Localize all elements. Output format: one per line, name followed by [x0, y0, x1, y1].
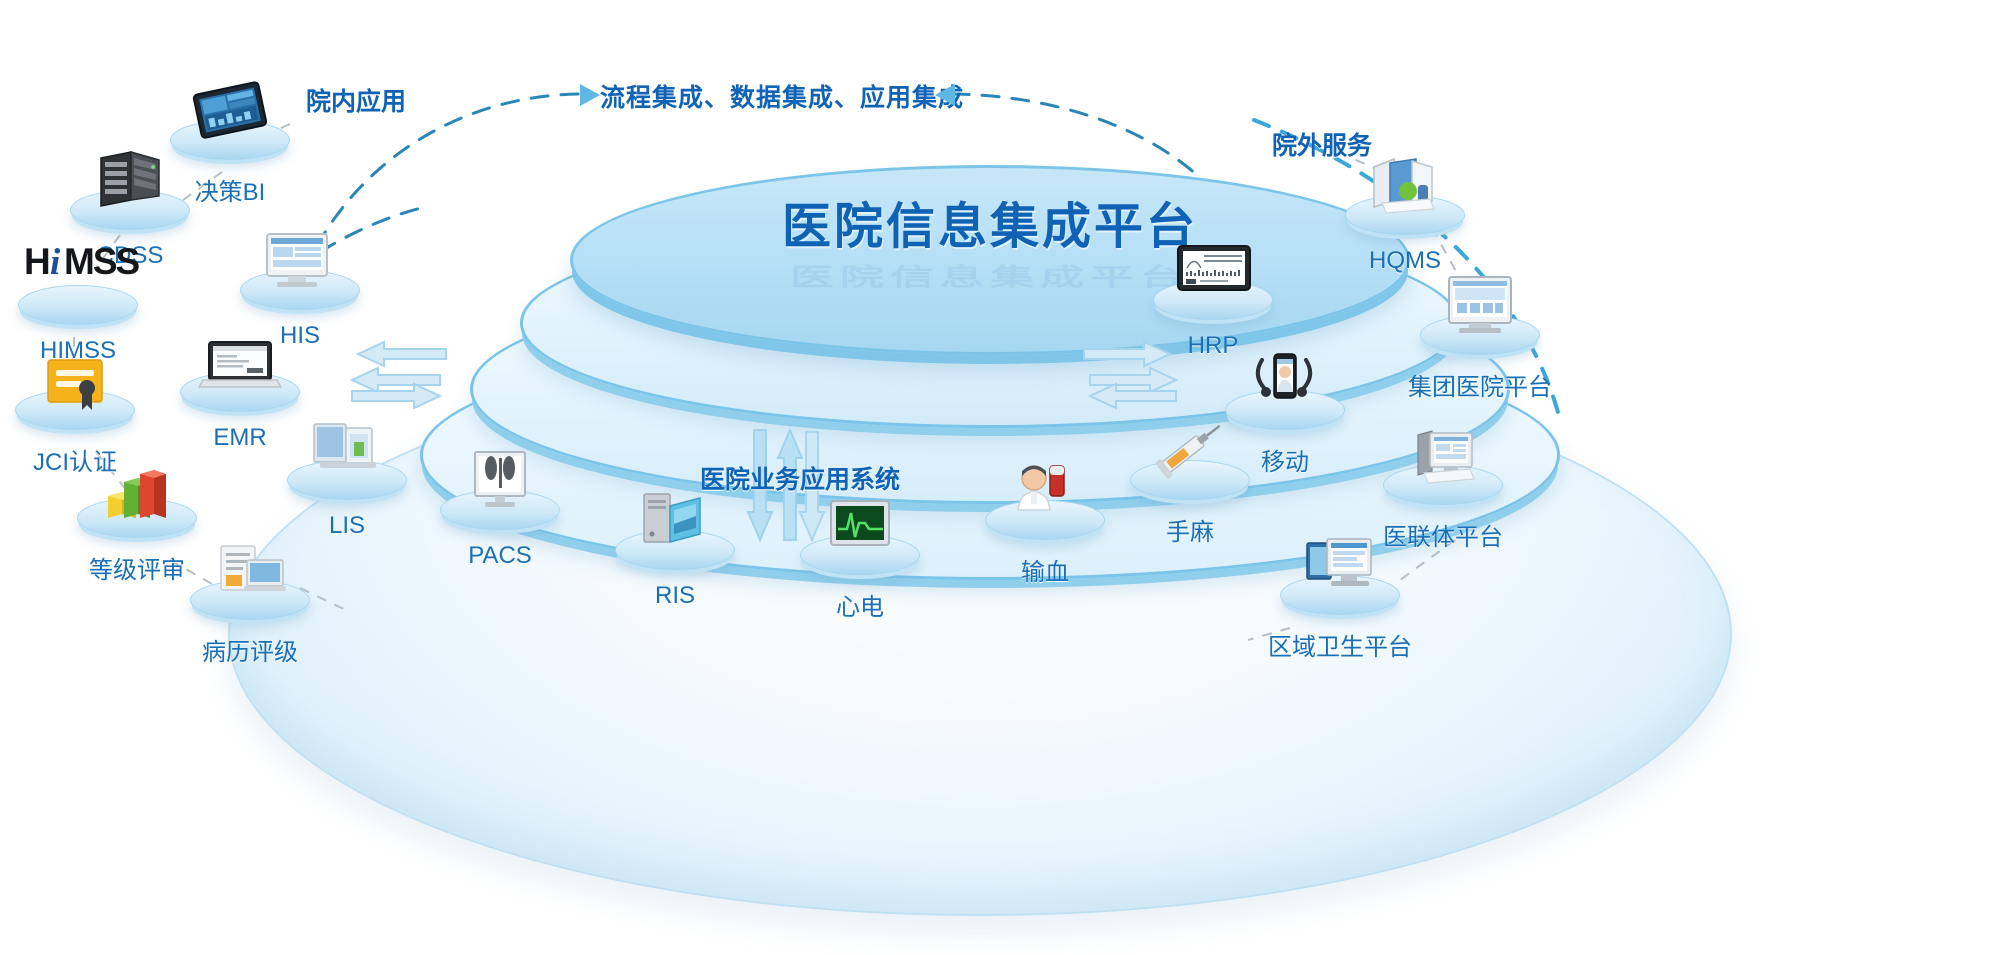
node-pedestal: H i MSS	[18, 285, 138, 325]
banner-arrow-right-icon	[580, 84, 600, 106]
node-pedestal	[77, 498, 197, 538]
node-label: RIS	[595, 582, 755, 610]
laptop-icon	[195, 326, 285, 398]
node-label: 集团医院平台	[1400, 367, 1560, 402]
group-title-external: 院外服务	[1272, 126, 1372, 162]
diagram-canvas: 流程集成、数据集成、应用集成 基础数据中心 临床数据中心 运营数据中心 医院信息…	[0, 0, 2000, 955]
node-pedestal	[985, 500, 1105, 540]
node-pedestal	[1383, 465, 1503, 505]
lab-analyzer-icon	[302, 414, 392, 486]
blood-donor-icon	[1000, 454, 1090, 526]
svg-text:H: H	[24, 241, 50, 282]
himss-logo-icon: H i MSS	[33, 236, 123, 308]
node-label: 医联体平台	[1363, 517, 1523, 552]
node-ecg[interactable]: 心电	[780, 535, 940, 622]
node-emr-rating[interactable]: 病历评级	[170, 580, 330, 667]
ecg-monitor-icon	[815, 489, 905, 561]
certificate-icon	[30, 344, 120, 416]
desktop-files-icon	[1398, 419, 1488, 491]
node-pedestal	[615, 530, 735, 570]
node-pedestal	[800, 535, 920, 575]
svg-text:i: i	[50, 242, 61, 283]
node-mobile[interactable]: 移动	[1205, 390, 1365, 477]
node-pedestal	[1225, 390, 1345, 430]
node-label: 心电	[780, 587, 940, 622]
node-label: 输血	[965, 552, 1125, 587]
node-label: EMR	[160, 424, 320, 452]
tablet-chart-icon	[1168, 234, 1258, 306]
node-pedestal	[1280, 575, 1400, 615]
banner-arrow-left-icon	[935, 84, 955, 106]
documents-icon	[1360, 149, 1450, 221]
desktop-pc-icon	[255, 224, 345, 296]
page-title: 医院信息集成平台	[570, 187, 1410, 258]
group-title-internal: 院内应用	[306, 82, 406, 118]
node-regional-health-platform[interactable]: 区域卫生平台	[1260, 575, 1420, 662]
node-pedestal	[170, 120, 290, 160]
tablet-icon	[185, 74, 275, 146]
node-pedestal	[287, 460, 407, 500]
bar-chart-3d-icon	[92, 452, 182, 524]
node-pedestal	[1153, 280, 1273, 320]
node-pedestal	[440, 490, 560, 530]
node-medical-union-platform[interactable]: 医联体平台	[1363, 465, 1523, 552]
node-pedestal	[180, 372, 300, 412]
xray-monitor-icon	[455, 444, 545, 516]
node-pedestal	[15, 390, 135, 430]
node-ris[interactable]: RIS	[595, 530, 755, 610]
node-pedestal	[240, 270, 360, 310]
node-pedestal	[1345, 195, 1465, 235]
node-label: PACS	[420, 542, 580, 570]
node-pedestal	[190, 580, 310, 620]
node-pedestal	[70, 190, 190, 230]
node-blood[interactable]: 输血	[965, 500, 1125, 587]
integration-banner-text: 流程集成、数据集成、应用集成	[600, 78, 930, 114]
server-rack-icon	[85, 144, 175, 216]
tower-pc-icon	[630, 484, 720, 556]
node-grade-review[interactable]: 等级评审	[57, 498, 217, 585]
node-pedestal	[1420, 315, 1540, 355]
node-emr[interactable]: EMR	[160, 372, 320, 452]
stethoscope-phone-icon	[1240, 344, 1330, 416]
node-pacs[interactable]: PACS	[420, 490, 580, 570]
node-lis[interactable]: LIS	[267, 460, 427, 540]
crt-monitor-icon	[1435, 269, 1525, 341]
node-label: LIS	[267, 512, 427, 540]
node-label: 移动	[1205, 442, 1365, 477]
svg-text:MSS: MSS	[64, 241, 140, 282]
node-label: 病历评级	[170, 632, 330, 667]
report-laptop-icon	[205, 534, 295, 606]
node-label: 区域卫生平台	[1260, 627, 1420, 662]
blue-monitor-icon	[1295, 529, 1385, 601]
node-hqms[interactable]: HQMS	[1325, 195, 1485, 275]
node-group-hospital-platform[interactable]: 集团医院平台	[1400, 315, 1560, 402]
node-label: 手麻	[1110, 512, 1270, 547]
